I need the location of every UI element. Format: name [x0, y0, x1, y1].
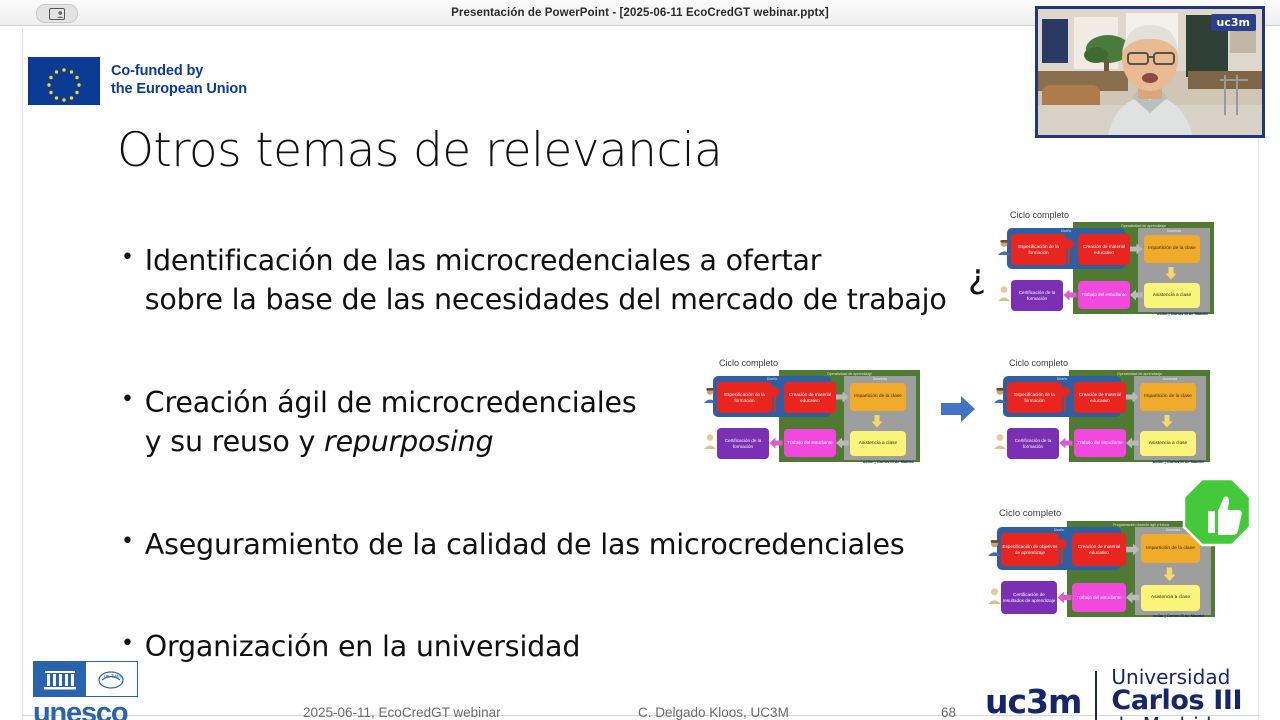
- unesco-chair-logo: un Twin unesco Chair Scalable Digital Ed…: [33, 661, 176, 720]
- box-imparticion: Impartición de la clase: [850, 383, 906, 411]
- box-trabajo-estudiante: Trabajo del estudiante: [1072, 583, 1126, 612]
- diagram-brand-uc3m: uc3m | Carlos III de Madrid: [1153, 613, 1204, 618]
- eu-flag-icon: [28, 57, 100, 105]
- eu-line-2: the European Union: [111, 81, 247, 99]
- pin-marker-icon: [769, 384, 781, 414]
- box-creacion-material: Creación de material educativo: [1074, 382, 1126, 413]
- bullet-2-line-1: Creación ágil de microcredenciales: [145, 386, 637, 419]
- diagram-ciclo-completo-top: Ciclo completo Operatividad de aprendiza…: [997, 209, 1223, 321]
- band-green-label: Operatividad de aprendizaje: [779, 370, 920, 376]
- box-certificacion: Certificación de la formación: [1011, 280, 1063, 311]
- diagram-ciclo-completo-after: Ciclo completo Operatividad de aprendiza…: [993, 357, 1219, 469]
- band-blue-label: Diseño: [1007, 228, 1125, 233]
- uc3m-university-name: Universidad Carlos III de Madrid: [1111, 667, 1242, 720]
- uc3m-logo: uc3m Universidad Carlos III de Madrid: [985, 667, 1242, 720]
- diagram-brand-uc3m: uc3m | Carlos III de Madrid: [1157, 311, 1208, 316]
- diagram-brand-uc3m: uc3m | Carlos III de Madrid: [1153, 459, 1204, 464]
- pin-marker-icon: [1059, 384, 1071, 414]
- svg-text:un Twin: un Twin: [104, 674, 121, 680]
- band-blue-label: Diseño: [1003, 376, 1121, 381]
- flow-arrow-icon: [941, 394, 976, 424]
- box-creacion-material: Creación de material educativo: [784, 382, 836, 413]
- box-certificacion-resultados: Certificación de resultados de aprendiza…: [1001, 581, 1057, 614]
- uc3m-name-line-1: Universidad: [1111, 667, 1242, 687]
- arrow-left-1: [1130, 289, 1143, 301]
- arrow-down-1: [1161, 415, 1173, 428]
- box-trabajo-estudiante: Trabajo del estudiante: [1074, 429, 1126, 457]
- band-green-label: Operatividad de aprendizaje: [1073, 222, 1214, 228]
- arrow-left-2: [1059, 437, 1073, 449]
- arrow-left-2: [769, 437, 783, 449]
- band-blue-label: Diseño: [713, 376, 831, 381]
- footer-author: C. Delgado Kloos, UC3M: [638, 705, 789, 720]
- band-gray-label: Docencia: [1134, 376, 1206, 381]
- slide-title: Otros temas de relevancia: [117, 123, 722, 178]
- bullet-text-4: Organización en la universidad: [145, 627, 580, 666]
- arrow-left-2: [1063, 289, 1077, 301]
- pin-marker-icon: [1056, 535, 1068, 567]
- unesco-wordmark: unesco: [33, 699, 176, 720]
- person-icon-teacher: [993, 387, 1007, 403]
- bullet-1-line-1: Identificación de las microcredenciales …: [145, 244, 821, 277]
- box-especificacion: Especificación de la formación: [717, 382, 772, 413]
- eu-cofunded-text: Co-funded by the European Union: [111, 63, 247, 98]
- box-asistencia: Asistencia a clase: [850, 431, 906, 456]
- eu-cofunded-logo: Co-funded by the European Union: [28, 57, 247, 105]
- bullet-text-1: Identificación de las microcredenciales …: [145, 241, 947, 320]
- arrow-left-1: [1126, 591, 1140, 604]
- person-icon-teacher: [997, 239, 1011, 255]
- box-especificacion: Especificación de la formación: [1007, 382, 1062, 413]
- box-especificacion-objetivos: Especificación de objetivos de aprendiza…: [1001, 533, 1059, 566]
- box-asistencia: Asistencia a clase: [1140, 431, 1196, 456]
- uc3m-webcam-badge: uc3m: [1211, 14, 1256, 31]
- footer-page-number: 68: [941, 705, 956, 720]
- uc3m-divider: [1095, 671, 1097, 720]
- bullet-2-line-2-emphasis: repurposing: [324, 425, 493, 458]
- bullet-marker: •: [121, 627, 134, 660]
- slide-border-left: [22, 27, 23, 720]
- person-icon-teacher: [703, 387, 717, 403]
- thumbs-up-icon: [1182, 477, 1252, 547]
- box-certificacion: Certificación de la formación: [717, 428, 769, 459]
- bullet-item-2: • Creación ágil de microcredenciales y s…: [121, 383, 636, 462]
- diagram-ciclo-completo-before: Ciclo completo Operatividad de aprendiza…: [703, 357, 929, 469]
- unesco-temple-icon: [34, 662, 86, 696]
- eu-line-1: Co-funded by: [111, 63, 247, 81]
- unesco-emblem-icons: un Twin: [33, 661, 138, 697]
- person-icon-teacher: [987, 539, 1002, 556]
- diagram-title: Ciclo completo: [1009, 358, 1068, 368]
- bullet-item-4: • Organización en la universidad: [121, 627, 580, 666]
- box-imparticion: Impartición de la clase: [1140, 383, 1196, 411]
- person-icon-student: [987, 587, 1002, 604]
- diagram-title: Ciclo completo: [999, 508, 1061, 519]
- powerpoint-presentation-window: Presentación de PowerPoint - [2025-06-11…: [0, 0, 1280, 720]
- box-asistencia: Asistencia a clase: [1141, 585, 1200, 611]
- box-creacion-material: Creación de material educativo: [1078, 234, 1130, 265]
- person-icon-student: [993, 433, 1007, 449]
- arrow-down-1: [1163, 567, 1176, 582]
- diagram-title: Ciclo completo: [719, 358, 778, 368]
- diagram-title: Ciclo completo: [1010, 210, 1069, 220]
- box-asistencia: Asistencia a clase: [1144, 283, 1200, 308]
- bullet-1-line-2: sobre la base de las necesidades del mer…: [145, 283, 947, 316]
- diagram-brand-uc3m: uc3m | Carlos III de Madrid: [863, 459, 914, 464]
- box-trabajo-estudiante: Trabajo del estudiante: [1078, 281, 1130, 309]
- person-icon-student: [703, 433, 717, 449]
- arrow-left-2: [1057, 591, 1072, 604]
- arrow-left-1: [836, 437, 849, 449]
- arrow-right-1: [1130, 243, 1143, 255]
- uc3m-name-line-2: Carlos III: [1111, 687, 1242, 715]
- bullet-marker: •: [121, 525, 134, 558]
- arrow-right-1: [1126, 543, 1140, 556]
- bullet-item-3: • Aseguramiento de la calidad de las mic…: [121, 525, 905, 564]
- person-icon-student: [997, 285, 1011, 301]
- arrow-down-1: [871, 415, 883, 428]
- bullet-item-1: • Identificación de las microcredenciale…: [121, 241, 947, 320]
- bullet-marker: •: [121, 241, 134, 274]
- bullet-text-2: Creación ágil de microcredenciales y su …: [145, 383, 637, 462]
- question-mark-open: ¿: [968, 257, 986, 297]
- band-green-label: Operatividad de aprendizaje: [1069, 370, 1210, 376]
- band-gray-label: Docencia: [1138, 228, 1210, 233]
- band-blue-label: Diseño: [997, 527, 1121, 532]
- box-creacion-material: Creación de material educativo: [1072, 533, 1126, 566]
- unesco-chair-mark-icon: un Twin: [86, 662, 138, 696]
- box-certificacion: Certificación de la formación: [1007, 428, 1059, 459]
- presenter-webcam-overlay[interactable]: uc3m: [1035, 6, 1265, 138]
- arrow-right-1: [1126, 391, 1139, 403]
- arrow-down-1: [1165, 267, 1177, 280]
- bullet-marker: •: [121, 383, 134, 416]
- band-gray-label: Docencia: [844, 376, 916, 381]
- arrow-right-1: [836, 391, 849, 403]
- bullet-text-3: Aseguramiento de la calidad de las micro…: [145, 525, 905, 564]
- pin-marker-icon: [1063, 236, 1075, 266]
- bullet-2-line-2-pre: y su reuso y: [145, 425, 324, 458]
- box-especificacion: Especificación de la formación: [1011, 234, 1066, 265]
- arrow-left-1: [1126, 437, 1139, 449]
- uc3m-wordmark: uc3m: [985, 682, 1081, 720]
- box-trabajo-estudiante: Trabajo del estudiante: [784, 429, 836, 457]
- footer-date-event: 2025-06-11, EcoCredGT webinar: [303, 705, 501, 720]
- box-imparticion: Impartición de la clase: [1144, 235, 1200, 263]
